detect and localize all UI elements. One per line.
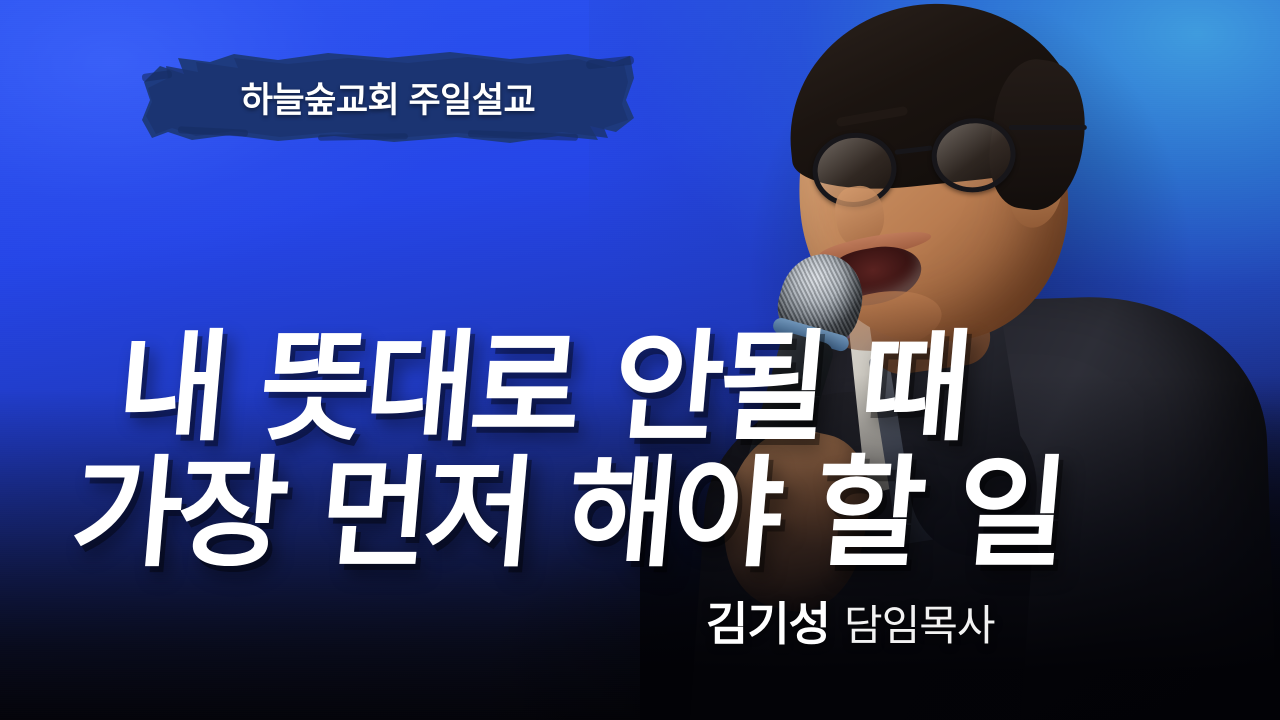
speaker-role: 담임목사 xyxy=(844,592,995,653)
video-thumbnail: 하늘숲교회 주일설교 내 뜻대로 안될 때 가장 먼저 해야 할 일 김기성 담… xyxy=(0,0,1280,720)
title-line-2: 가장 먼저 해야 할 일 xyxy=(67,456,1105,574)
series-badge: 하늘숲교회 주일설교 xyxy=(138,48,638,148)
title-block: 내 뜻대로 안될 때 가장 먼저 해야 할 일 xyxy=(0,330,1100,573)
series-badge-label: 하늘숲교회 주일설교 xyxy=(138,48,638,148)
speaker-name: 김기성 xyxy=(706,588,830,654)
speaker-credit: 김기성 담임목사 xyxy=(706,588,995,654)
title-line-1: 내 뜻대로 안될 때 xyxy=(113,330,1105,448)
